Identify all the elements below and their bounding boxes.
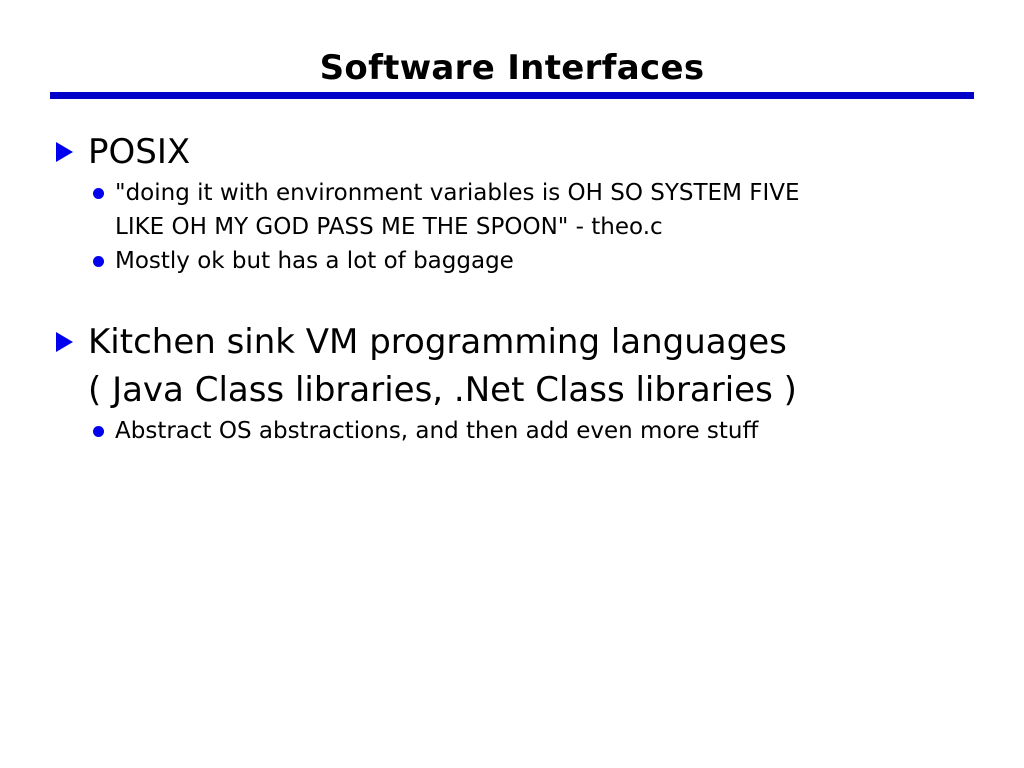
dot-bullet-icon: [93, 256, 104, 267]
dot-bullet-icon: [93, 426, 104, 437]
outline-item-label: "doing it with environment variables is …: [115, 176, 1024, 244]
title-divider-rule: [50, 92, 974, 99]
outline-item-level2: Mostly ok but has a lot of baggage: [0, 244, 1024, 278]
outline-item-label: Kitchen sink VM programming languages ( …: [88, 318, 1024, 414]
slide-body-outline: POSIX "doing it with environment variabl…: [0, 128, 1024, 448]
outline-item-label: Mostly ok but has a lot of baggage: [115, 244, 1024, 278]
triangle-bullet-icon: [56, 332, 73, 352]
outline-item-level2: "doing it with environment variables is …: [0, 176, 1024, 244]
slide-title-block: Software Interfaces: [0, 48, 1024, 88]
triangle-bullet-icon: [56, 142, 73, 162]
presentation-slide: Software Interfaces POSIX "doing it with…: [0, 0, 1024, 768]
outline-item-level1: Kitchen sink VM programming languages ( …: [0, 318, 1024, 414]
dot-bullet-icon: [93, 188, 104, 199]
page-title: Software Interfaces: [0, 48, 1024, 88]
outline-item-level1: POSIX: [0, 128, 1024, 176]
outline-item-label: POSIX: [88, 128, 1024, 176]
outline-item-label: Abstract OS abstractions, and then add e…: [115, 414, 1024, 448]
outline-spacer: [0, 278, 1024, 318]
outline-item-level2: Abstract OS abstractions, and then add e…: [0, 414, 1024, 448]
